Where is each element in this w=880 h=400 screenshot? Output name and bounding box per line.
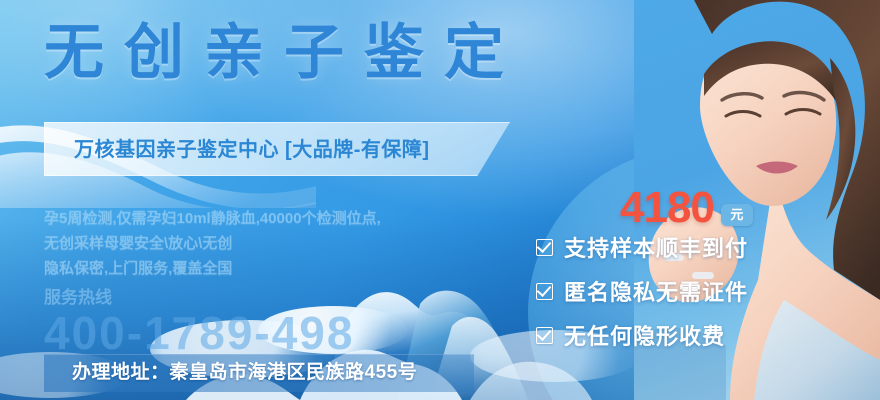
feature-list: 支持样本顺丰到付 匿名隐私无需证件 无任何隐形收费: [536, 228, 748, 360]
address-text: 办理地址：秦皇岛市海港区民族路455号: [72, 357, 417, 384]
hotline-number: 400-1789-498: [44, 306, 354, 360]
price-unit-badge: 元: [721, 204, 753, 226]
checkbox-check-icon: [536, 327, 553, 344]
feature-label: 匿名隐私无需证件: [564, 275, 748, 307]
copy-line-1: 孕5周检测,仅需孕妇10ml静脉血,40000个检测位点,: [44, 206, 464, 231]
feature-label: 支持样本顺丰到付: [564, 231, 748, 263]
copy-line-3: 隐私保密,上门服务,覆盖全国: [44, 256, 464, 281]
subtitle-text: 万核基因亲子鉴定中心 [大品牌-有保障]: [74, 133, 430, 162]
copy-line-2: 无创采样母婴安全\放心\无创: [44, 231, 464, 256]
price-value: 4180: [620, 186, 714, 230]
feature-label: 无任何隐形收费: [564, 319, 725, 351]
page-title: 无创亲子鉴定: [44, 16, 524, 90]
list-item: 匿名隐私无需证件: [536, 272, 748, 310]
promo-banner: 无创亲子鉴定 万核基因亲子鉴定中心 [大品牌-有保障] 孕5周检测,仅需孕妇10…: [0, 0, 880, 400]
checkbox-check-icon: [536, 239, 553, 256]
price-block: 4180 元: [620, 186, 753, 230]
list-item: 支持样本顺丰到付: [536, 228, 748, 266]
checkbox-check-icon: [536, 283, 553, 300]
list-item: 无任何隐形收费: [536, 316, 748, 354]
body-copy: 孕5周检测,仅需孕妇10ml静脉血,40000个检测位点, 无创采样母婴安全\放…: [44, 206, 464, 281]
